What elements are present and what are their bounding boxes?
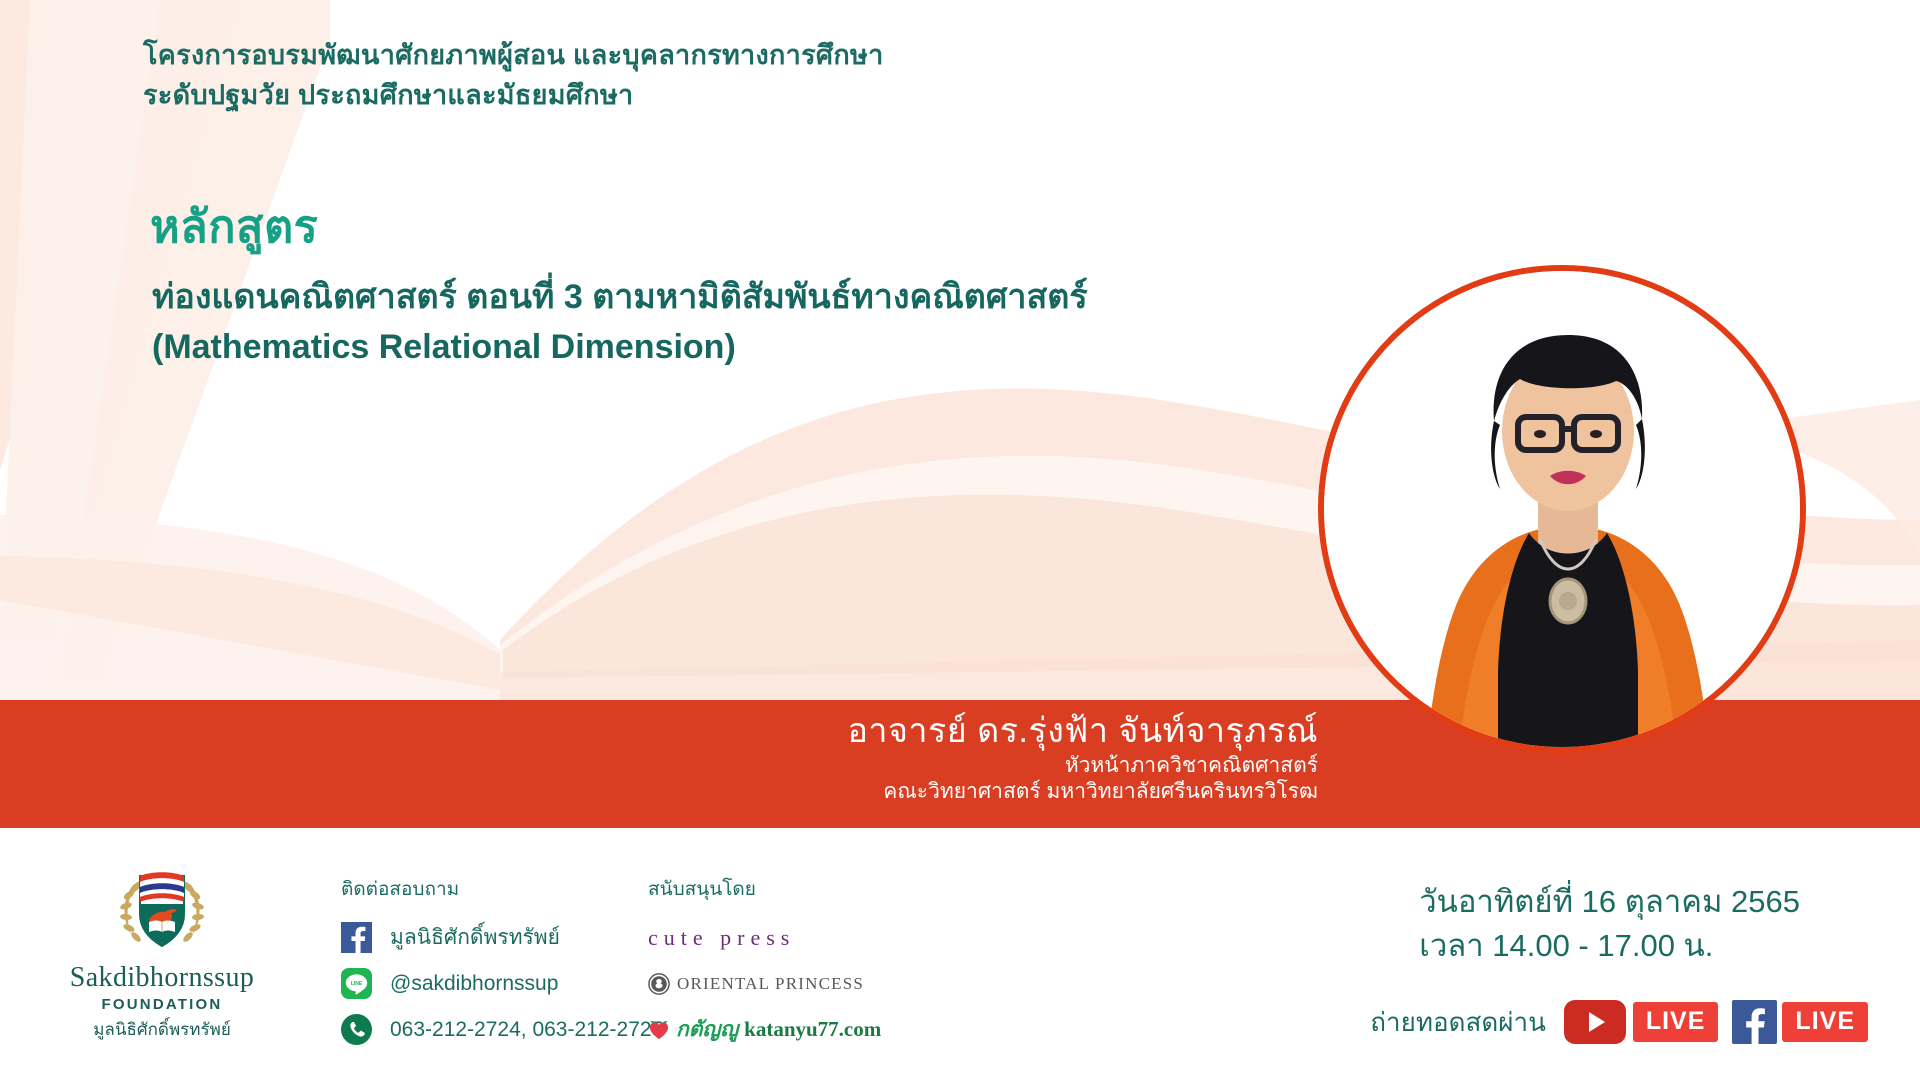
schedule-date: วันอาทิตย์ที่ 16 ตุลาคม 2565 (1419, 880, 1800, 924)
sponsor-heading: สนับสนุนโดย (648, 874, 881, 904)
poster-canvas: โครงการอบรมพัฒนาศักยภาพผู้สอน และบุคลากร… (0, 0, 1920, 1080)
foundation-logo-subtitle: FOUNDATION (38, 996, 286, 1013)
sponsor-row-katanyu: กตัญญู katanyu77.com (648, 1008, 881, 1051)
youtube-play-triangle-icon (1589, 1012, 1605, 1032)
contact-line-text: @sakdibhornssup (390, 972, 558, 996)
course-title-english: (Mathematics Relational Dimension) (152, 322, 1252, 372)
foundation-logo-thai: มูลนิธิศักดิ์พรทรัพย์ (38, 1016, 286, 1043)
crest-icon (107, 862, 217, 960)
contact-row-facebook[interactable]: มูลนิธิศักดิ์พรทรัพย์ (341, 916, 663, 959)
facebook-live-badge[interactable]: LIVE (1782, 1002, 1868, 1042)
sponsor-row-cutepress: cute press (648, 916, 881, 959)
katanyu-logo-english: katanyu77.com (744, 1017, 881, 1042)
broadcast-block: ถ่ายทอดสดผ่าน LIVE LIVE (1370, 1000, 1868, 1044)
foundation-logo: Sakdibhornssup FOUNDATION มูลนิธิศักดิ์พ… (38, 862, 286, 1043)
speaker-role-line-1: หัวหน้าภาควิชาคณิตศาสตร์ (0, 753, 1318, 780)
katanyu-logo-thai: กตัญญู (676, 1013, 738, 1046)
line-icon[interactable]: LINE (341, 968, 372, 999)
schedule-time: เวลา 14.00 - 17.00 น. (1419, 924, 1800, 968)
sponsor-column: สนับสนุนโดย cute press ORIENTAL PRINCESS… (648, 874, 881, 1054)
course-label: หลักสูตร (150, 190, 318, 262)
sponsor-row-oriental-princess: ORIENTAL PRINCESS (648, 962, 881, 1005)
youtube-live-badge[interactable]: LIVE (1633, 1002, 1719, 1042)
course-title-thai: ท่องแดนคณิตศาสตร์ ตอนที่ 3 ตามหามิติสัมพ… (152, 272, 1252, 322)
contact-facebook-text: มูลนิธิศักดิ์พรทรัพย์ (390, 921, 560, 954)
speaker-role-line-2: คณะวิทยาศาสตร์ มหาวิทยาลัยศรีนครินทรวิโร… (0, 779, 1318, 806)
facebook-f-glyph-icon (1740, 1004, 1770, 1044)
katanyu-heart-icon (648, 1020, 670, 1040)
program-header-line-1: โครงการอบรมพัฒนาศักยภาพผู้สอน และบุคลากร… (143, 36, 1143, 76)
speaker-portrait-illustration (1324, 271, 1806, 753)
schedule-block: วันอาทิตย์ที่ 16 ตุลาคม 2565 เวลา 14.00 … (1419, 880, 1800, 968)
contact-column: ติดต่อสอบถาม มูลนิธิศักดิ์พรทรัพย์ LINE … (341, 874, 663, 1054)
course-title: ท่องแดนคณิตศาสตร์ ตอนที่ 3 ตามหามิติสัมพ… (152, 272, 1252, 373)
contact-phone-text: 063-212-2724, 063-212-2725 (390, 1018, 663, 1042)
facebook-icon[interactable] (1732, 1000, 1777, 1044)
oriental-princess-mark-icon (648, 973, 670, 995)
svg-text:LINE: LINE (351, 981, 363, 987)
program-header-line-2: ระดับปฐมวัย ประถมศึกษาและมัธยมศึกษา (143, 76, 1143, 116)
facebook-icon[interactable] (341, 922, 372, 953)
speaker-photo (1318, 265, 1806, 753)
foundation-logo-name: Sakdibhornssup (38, 964, 286, 992)
youtube-icon[interactable] (1564, 1000, 1626, 1044)
broadcast-label: ถ่ายทอดสดผ่าน (1370, 1002, 1546, 1043)
speaker-banner-text: อาจารย์ ดร.รุ่งฟ้า จันท์จารุภรณ์ หัวหน้า… (0, 700, 1345, 828)
cutepress-logo: cute press (648, 925, 795, 951)
contact-row-phone[interactable]: 063-212-2724, 063-212-2725 (341, 1008, 663, 1051)
oriental-princess-logo: ORIENTAL PRINCESS (677, 974, 864, 994)
contact-row-line[interactable]: LINE @sakdibhornssup (341, 962, 663, 1005)
program-header: โครงการอบรมพัฒนาศักยภาพผู้สอน และบุคลากร… (143, 36, 1143, 116)
phone-icon[interactable] (341, 1014, 372, 1045)
contact-heading: ติดต่อสอบถาม (341, 874, 663, 904)
speaker-name: อาจารย์ ดร.รุ่งฟ้า จันท์จารุภรณ์ (0, 710, 1318, 753)
